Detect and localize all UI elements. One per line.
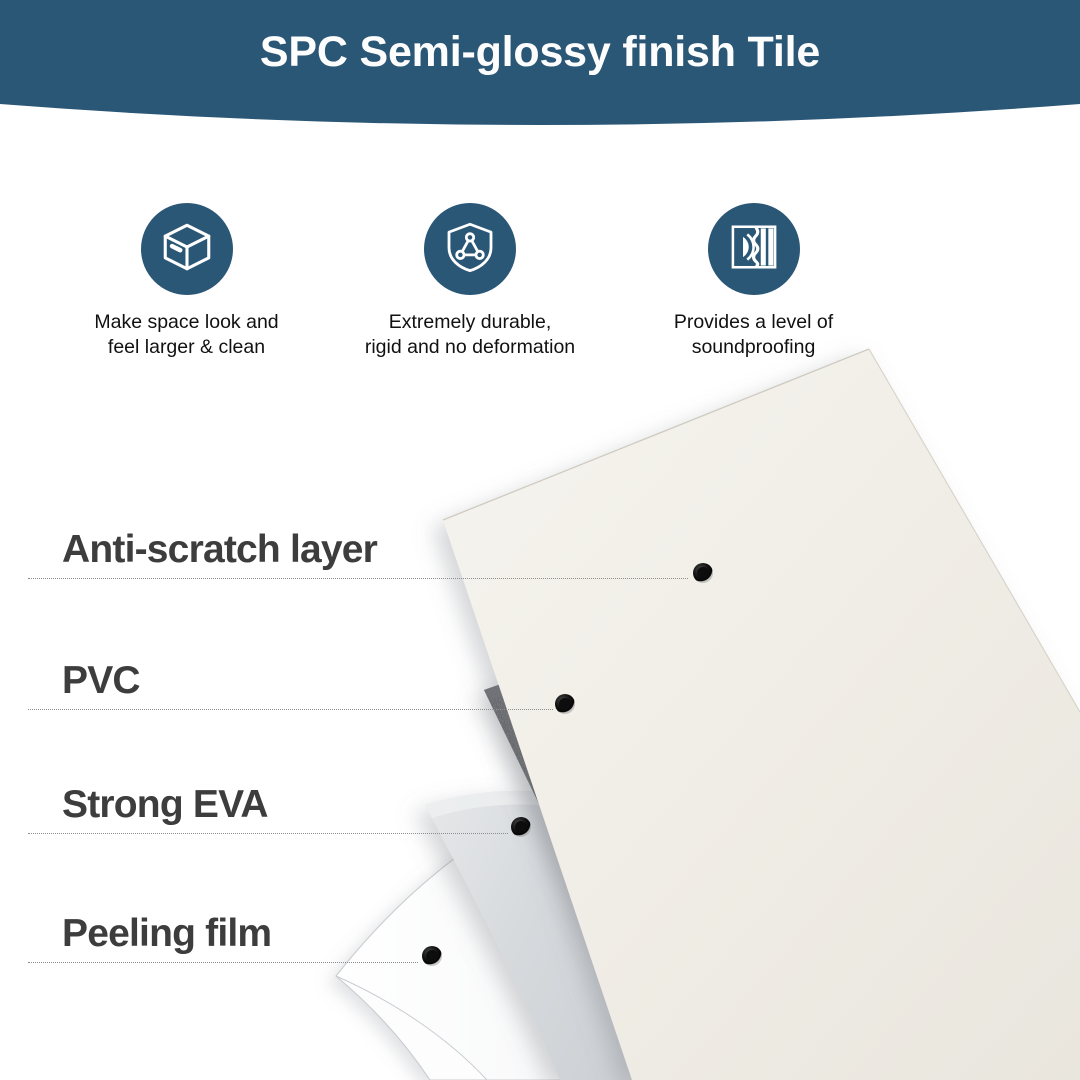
layer-label-strong-eva: Strong EVA <box>62 783 268 827</box>
infographic-canvas: SPC Semi-glossy finish Tile Make space l… <box>0 0 1080 1080</box>
feature-badge-2 <box>424 203 516 295</box>
feature-badge-1 <box>141 203 233 295</box>
leader-line-anti-scratch <box>28 578 688 579</box>
box-3d-icon <box>158 218 216 281</box>
shield-network-icon <box>442 219 498 280</box>
layer-row-anti-scratch: Anti-scratch layer <box>0 578 1080 579</box>
leader-line-pvc <box>28 709 553 710</box>
layer-row-pvc: PVC <box>0 709 1080 710</box>
layer-label-peeling-film: Peeling film <box>62 912 271 956</box>
feature-highlights-row: Make space look and feel larger & clean … <box>45 203 895 373</box>
layer-marker-strong-eva <box>511 817 531 837</box>
feature-item-soundproof: Provides a level of soundproofing <box>612 203 895 360</box>
leader-line-strong-eva <box>28 833 508 834</box>
layer-label-pvc: PVC <box>62 659 140 703</box>
layer-marker-pvc <box>555 694 575 714</box>
feature-item-durable: Extremely durable, rigid and no deformat… <box>329 203 612 360</box>
page-title: SPC Semi-glossy finish Tile <box>0 0 1080 104</box>
feature-caption-2: Extremely durable, rigid and no deformat… <box>365 310 575 360</box>
leader-line-peeling-film <box>28 962 418 963</box>
feature-item-space: Make space look and feel larger & clean <box>45 203 328 360</box>
layer-row-peeling-film: Peeling film <box>0 962 1080 963</box>
feature-badge-3 <box>708 203 800 295</box>
layer-row-strong-eva: Strong EVA <box>0 833 1080 834</box>
layer-marker-anti-scratch <box>693 563 713 583</box>
layer-marker-peeling-film <box>422 946 442 966</box>
feature-caption-3: Provides a level of soundproofing <box>674 310 833 360</box>
feature-caption-1: Make space look and feel larger & clean <box>94 310 278 360</box>
layer-label-anti-scratch: Anti-scratch layer <box>62 528 377 572</box>
soundproofing-wall-icon <box>727 220 781 279</box>
